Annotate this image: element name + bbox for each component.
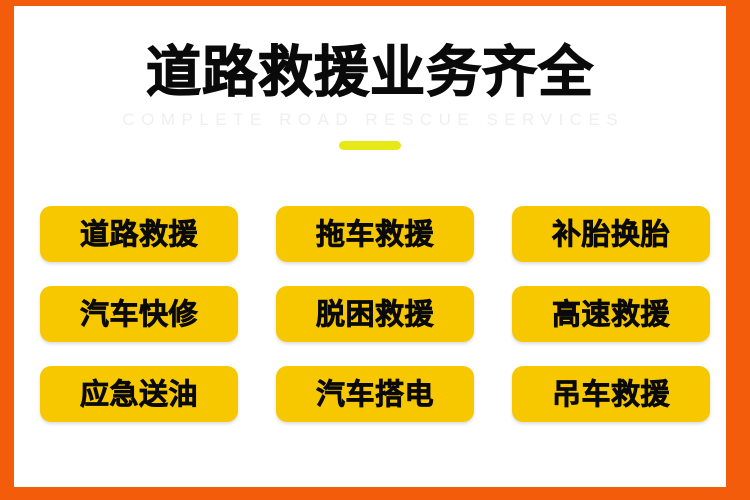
poster-frame: 道路救援业务齐全 COMPLETE ROAD RESCUE SERVICES 道… (0, 0, 750, 500)
service-chip-label: 补胎换胎 (552, 220, 670, 249)
accent-divider (339, 141, 401, 150)
service-chip-label: 汽车搭电 (316, 380, 434, 409)
page-title: 道路救援业务齐全 (14, 44, 726, 101)
service-chip-tuochejiuyuan[interactable]: 拖车救援 (276, 206, 474, 262)
service-grid: 道路救援 拖车救援 补胎换胎 汽车快修 脱困救援 高速救援 应急送油 汽车搭电 (40, 206, 710, 422)
service-chip-qichedadian[interactable]: 汽车搭电 (276, 366, 474, 422)
service-chip-qichekuaixiu[interactable]: 汽车快修 (40, 286, 238, 342)
service-chip-label: 应急送油 (80, 380, 198, 409)
service-chip-label: 汽车快修 (80, 300, 198, 329)
service-chip-diaochejiuyuan[interactable]: 吊车救援 (512, 366, 710, 422)
page-subtitle: COMPLETE ROAD RESCUE SERVICES (14, 110, 726, 130)
service-chip-label: 道路救援 (80, 220, 198, 249)
service-chip-butaihuantai[interactable]: 补胎换胎 (512, 206, 710, 262)
service-chip-label: 吊车救援 (552, 380, 670, 409)
service-chip-label: 拖车救援 (316, 220, 434, 249)
service-chip-tuokunjiuyuan[interactable]: 脱困救援 (276, 286, 474, 342)
poster-header: 道路救援业务齐全 COMPLETE ROAD RESCUE SERVICES (14, 44, 726, 150)
service-chip-daolujiuyuan[interactable]: 道路救援 (40, 206, 238, 262)
service-chip-yingjisongyou[interactable]: 应急送油 (40, 366, 238, 422)
service-chip-gaosujiuyuan[interactable]: 高速救援 (512, 286, 710, 342)
service-chip-label: 高速救援 (552, 300, 670, 329)
service-chip-label: 脱困救援 (316, 300, 434, 329)
poster-canvas: 道路救援业务齐全 COMPLETE ROAD RESCUE SERVICES 道… (14, 6, 726, 487)
